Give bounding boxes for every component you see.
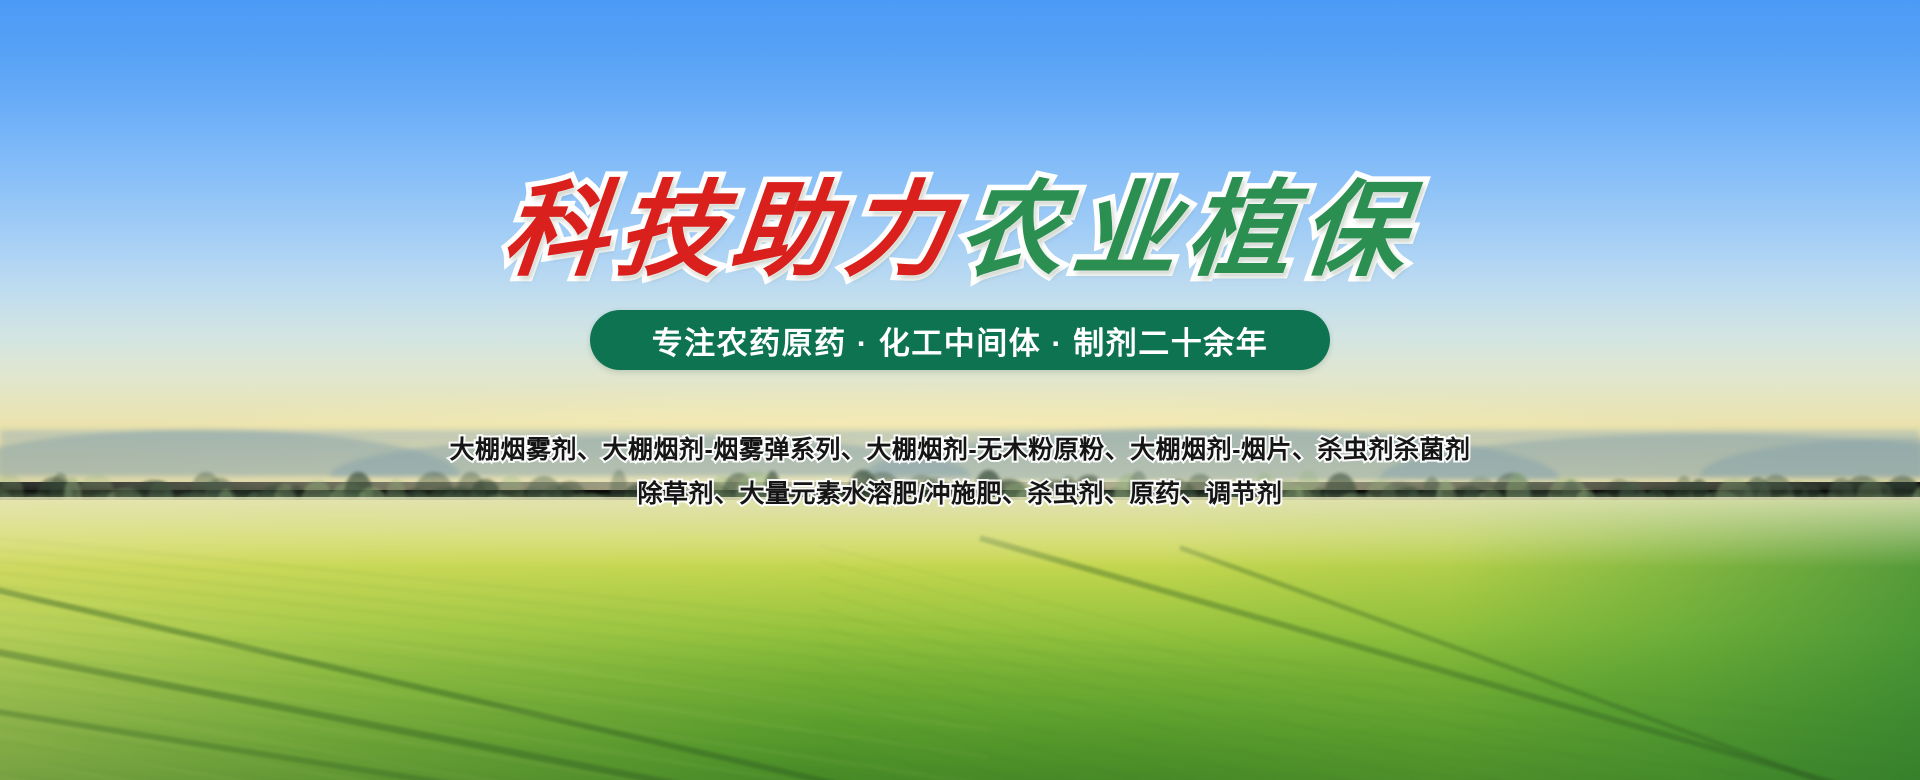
headline-green-segment: 农业植保 — [954, 168, 1423, 291]
product-list: 大棚烟雾剂、大棚烟剂-烟雾弹系列、大棚烟剂-无木粉原粉、大棚烟剂-烟片、杀虫剂杀… — [450, 430, 1471, 510]
hero-banner: 科技助力农业植保 专注农药原药 · 化工中间体 · 制剂二十余年 大棚烟雾剂、大… — [0, 0, 1920, 780]
tagline-text: 专注农药原药 · 化工中间体 · 制剂二十余年 — [652, 318, 1269, 363]
product-line-1: 大棚烟雾剂、大棚烟剂-烟雾弹系列、大棚烟剂-无木粉原粉、大棚烟剂-烟片、杀虫剂杀… — [450, 430, 1471, 466]
product-line-2: 除草剂、大量元素水溶肥/冲施肥、杀虫剂、原药、调节剂 — [638, 474, 1283, 510]
tagline-pill: 专注农药原药 · 化工中间体 · 制剂二十余年 — [590, 310, 1330, 370]
banner-content: 科技助力农业植保 专注农药原药 · 化工中间体 · 制剂二十余年 大棚烟雾剂、大… — [0, 0, 1920, 780]
headline-red-segment: 科技助力 — [498, 168, 967, 291]
headline: 科技助力农业植保 — [499, 178, 1422, 282]
